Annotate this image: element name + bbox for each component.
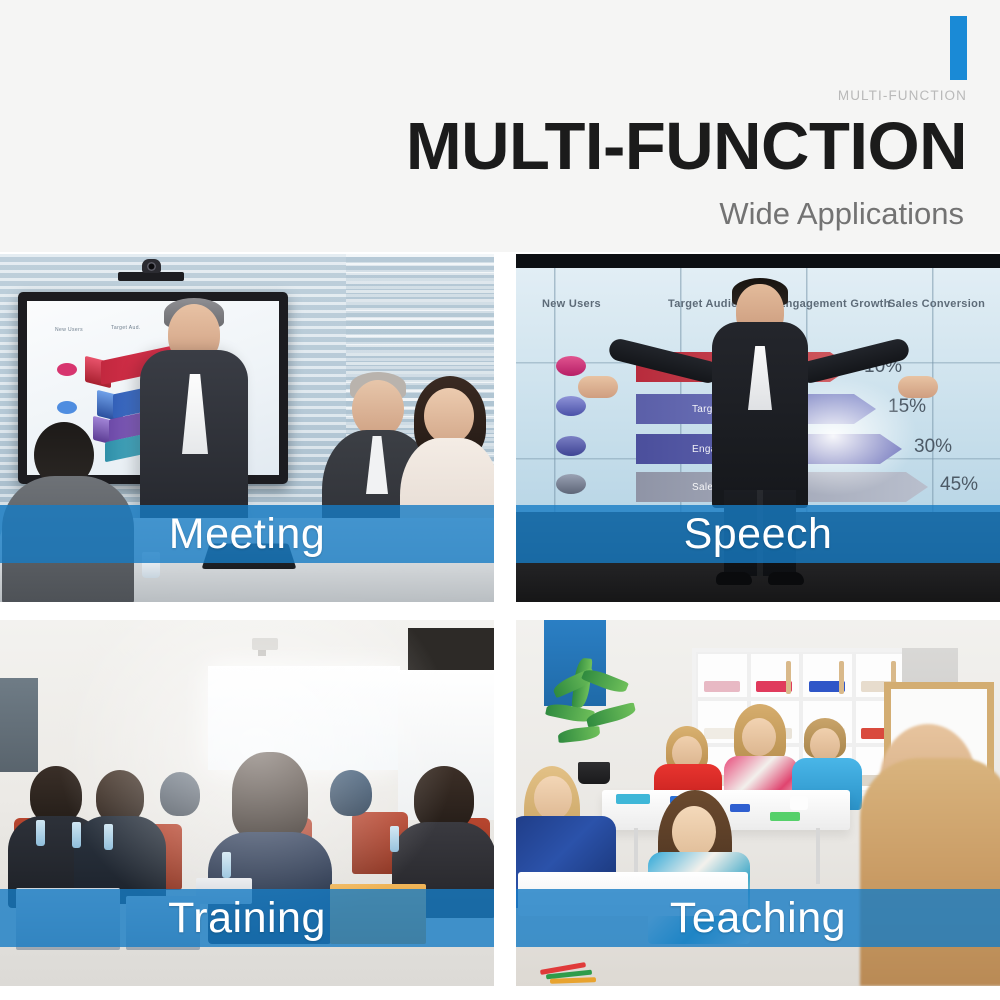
- wall-column-header-4: Sales Conversion: [888, 298, 985, 311]
- panel-label-banner: Meeting: [0, 505, 494, 563]
- teacher-body: [860, 758, 1000, 986]
- marketing-graphic: MULTI-FUNCTION MULTI-FUNCTION Wide Appli…: [0, 0, 1000, 1000]
- header: MULTI-FUNCTION MULTI-FUNCTION Wide Appli…: [0, 0, 1000, 252]
- wall-column-header-1: New Users: [542, 298, 601, 311]
- row-icon-3: [556, 436, 586, 456]
- conference-camera-icon: [118, 272, 184, 281]
- projection-screen: [208, 666, 400, 770]
- panel-teaching[interactable]: Teaching: [516, 620, 1000, 986]
- pencils: [540, 966, 626, 980]
- panel-label-banner: Speech: [516, 505, 1000, 563]
- page-subtitle: Wide Applications: [719, 196, 964, 232]
- projector-icon: [252, 638, 278, 650]
- panel-label-speech: Speech: [684, 513, 833, 556]
- wall-column-header-3: Engagement Growth: [778, 298, 891, 311]
- panel-label-banner: Training: [0, 889, 494, 947]
- panel-label-training: Training: [168, 897, 326, 940]
- row-icon-4: [556, 474, 586, 494]
- panel-meeting[interactable]: New Users Target Aud.: [0, 254, 494, 602]
- row-icon-2: [556, 396, 586, 416]
- accent-bar: [950, 16, 967, 80]
- chart-value-4: 45%: [940, 474, 978, 496]
- panel-label-teaching: Teaching: [670, 897, 846, 940]
- page-title: MULTI-FUNCTION: [406, 108, 967, 186]
- row-icon-1: [556, 356, 586, 376]
- panel-speech[interactable]: New Users Target Audience Engagement Gro…: [516, 254, 1000, 602]
- chart-value-3: 30%: [914, 436, 952, 458]
- eyebrow-label: MULTI-FUNCTION: [838, 88, 967, 103]
- panel-label-meeting: Meeting: [169, 513, 325, 556]
- panel-grid: New Users Target Aud.: [0, 254, 1000, 986]
- panel-label-banner: Teaching: [516, 889, 1000, 947]
- panel-training[interactable]: Training: [0, 620, 494, 986]
- potted-plant: [544, 656, 640, 768]
